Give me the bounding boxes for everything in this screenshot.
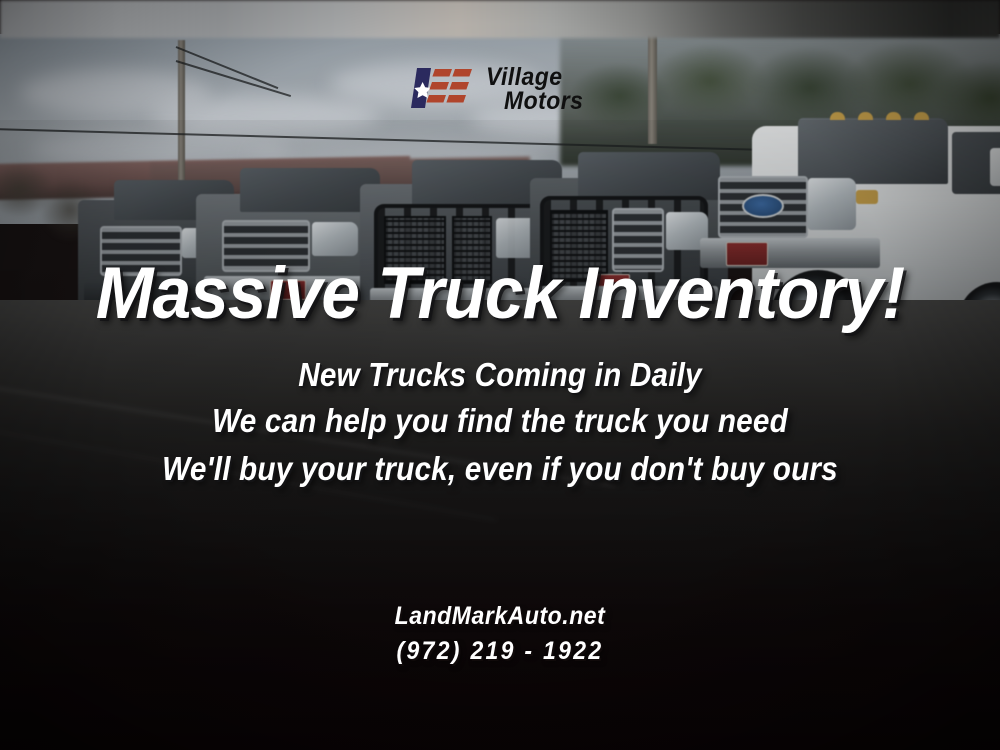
subheadline-2: We can help you find the truck you need [50,402,950,440]
phone-number-text[interactable]: (972) 219 - 1922 [40,637,960,666]
promotional-banner: Village Motors Massive Truck Inventory! … [0,0,1000,750]
banner-text-layer: Massive Truck Inventory! New Trucks Comi… [0,0,1000,750]
subheadline-1: New Trucks Coming in Daily [50,356,950,394]
headline: Massive Truck Inventory! [25,252,975,335]
website-text[interactable]: LandMarkAuto.net [40,602,960,631]
subheadline-3: We'll buy your truck, even if you don't … [50,450,950,488]
